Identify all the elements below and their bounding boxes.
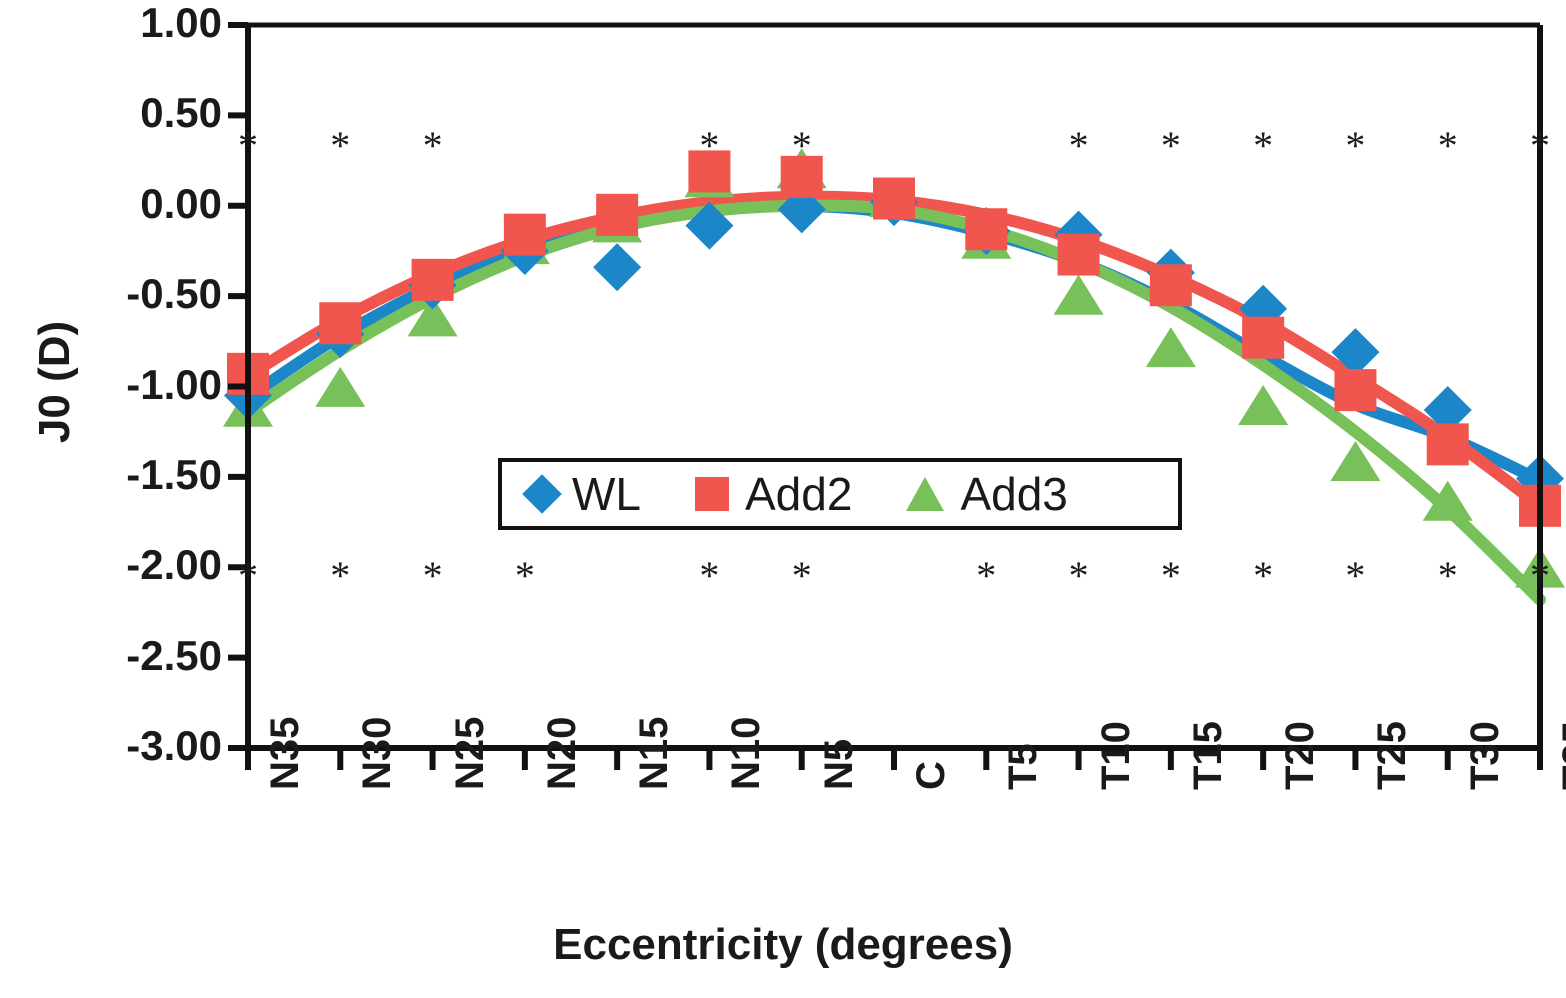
significance-asterisk-bottom-T25: * [1345, 556, 1365, 596]
significance-asterisk-bottom-N25: * [423, 556, 443, 596]
data-point-wl-N15 [593, 243, 641, 291]
y-tick-label: 1.00 [140, 0, 222, 47]
data-point-add2-T10 [1058, 234, 1100, 276]
significance-asterisk-top-T20: * [1253, 126, 1273, 166]
data-point-add2-T20 [1242, 317, 1284, 359]
legend-entry-wl: WL [528, 467, 641, 521]
data-point-add2-T30 [1427, 423, 1469, 465]
significance-asterisk-top-T30: * [1438, 126, 1458, 166]
significance-asterisk-top-T10: * [1069, 126, 1089, 166]
significance-asterisk-bottom-T15: * [1161, 556, 1181, 596]
data-point-add2-N25 [412, 259, 454, 301]
x-tick-label-T35: T35 [1555, 721, 1566, 790]
significance-asterisk-top-T35: * [1530, 126, 1550, 166]
y-tick-label: -0.50 [126, 270, 222, 318]
data-point-add2-T5 [965, 208, 1007, 250]
x-tick-label-T10: T10 [1094, 721, 1139, 790]
significance-asterisk-bottom-N10: * [699, 556, 719, 596]
significance-asterisk-bottom-T30: * [1438, 556, 1458, 596]
y-axis-title: J0 (D) [30, 252, 80, 512]
x-tick-label-N5: N5 [817, 739, 862, 790]
y-tick-label: -2.00 [126, 541, 222, 589]
data-point-add2-C [873, 178, 915, 220]
legend-square-icon [695, 477, 729, 511]
y-tick-label: 0.50 [140, 89, 222, 137]
data-point-add2-T25 [1334, 369, 1376, 411]
significance-asterisk-bottom-T10: * [1069, 556, 1089, 596]
significance-asterisk-bottom-N35: * [238, 556, 258, 596]
x-tick-label-T5: T5 [1001, 743, 1046, 790]
significance-asterisk-bottom-T35: * [1530, 556, 1550, 596]
x-tick-label-T15: T15 [1186, 721, 1231, 790]
significance-asterisk-top-N5: * [792, 126, 812, 166]
data-point-add2-N15 [596, 194, 638, 236]
x-tick-label-N15: N15 [632, 717, 677, 790]
legend-label: Add3 [960, 467, 1067, 521]
legend: WLAdd2Add3 [498, 458, 1182, 530]
legend-label: WL [572, 467, 641, 521]
significance-asterisk-bottom-N5: * [792, 556, 812, 596]
x-axis-title: Eccentricity (degrees) [0, 920, 1566, 970]
significance-asterisk-bottom-N20: * [515, 556, 535, 596]
data-point-add2-N20 [504, 214, 546, 256]
significance-asterisk-top-N10: * [699, 126, 719, 166]
significance-asterisk-top-T25: * [1345, 126, 1365, 166]
x-tick-label-T30: T30 [1463, 721, 1508, 790]
chart-figure: J0 (D) Eccentricity (degrees) 1.000.500.… [0, 0, 1566, 998]
significance-asterisk-top-N25: * [423, 126, 443, 166]
x-tick-label-N35: N35 [263, 717, 308, 790]
legend-entry-add2: Add2 [695, 467, 852, 521]
x-tick-label-T25: T25 [1370, 721, 1415, 790]
significance-asterisk-bottom-N30: * [330, 556, 350, 596]
significance-asterisk-top-N30: * [330, 126, 350, 166]
x-tick-label-C: C [909, 761, 954, 790]
legend-label: Add2 [745, 467, 852, 521]
data-point-add3-N30 [315, 367, 365, 407]
y-tick-label: -1.00 [126, 361, 222, 409]
y-tick-label: -1.50 [126, 451, 222, 499]
y-tick-label: -3.00 [126, 722, 222, 770]
data-point-add3-T20 [1238, 385, 1288, 425]
legend-diamond-icon [522, 474, 562, 514]
significance-asterisk-bottom-T20: * [1253, 556, 1273, 596]
y-tick-label: -2.50 [126, 632, 222, 680]
significance-asterisk-top-N35: * [238, 126, 258, 166]
x-tick-label-N10: N10 [724, 717, 769, 790]
significance-asterisk-top-T15: * [1161, 126, 1181, 166]
x-tick-label-T20: T20 [1278, 721, 1323, 790]
legend-triangle-icon [906, 477, 944, 511]
x-tick-label-N20: N20 [540, 717, 585, 790]
x-tick-label-N30: N30 [355, 717, 400, 790]
data-point-add2-T15 [1150, 264, 1192, 306]
x-tick-label-N25: N25 [448, 717, 493, 790]
data-point-add3-T10 [1054, 275, 1104, 315]
data-point-add3-T15 [1146, 327, 1196, 367]
significance-asterisk-bottom-T5: * [976, 556, 996, 596]
legend-entry-add3: Add3 [906, 467, 1067, 521]
data-point-add2-N30 [319, 302, 361, 344]
y-tick-label: 0.00 [140, 180, 222, 228]
